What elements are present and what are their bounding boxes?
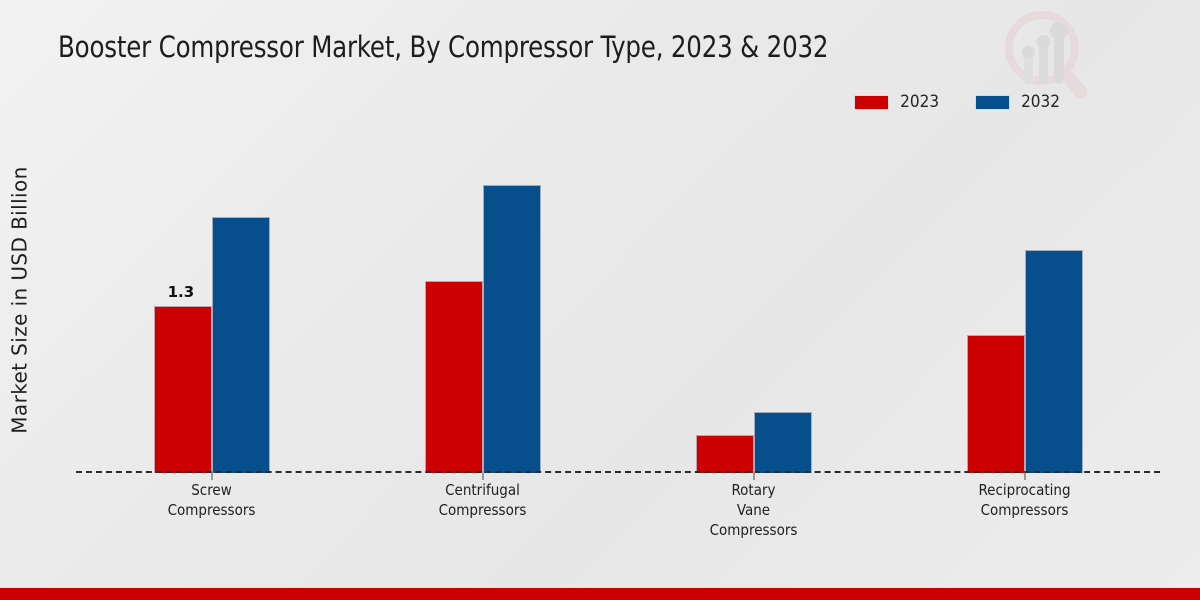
y-axis-title-text: Market Size in USD Billion (8, 166, 32, 433)
legend-label-2032: 2032 (1021, 92, 1060, 112)
magnifier-bar-chart-icon (1002, 8, 1088, 104)
bar-pair (425, 185, 541, 473)
x-axis-baseline (76, 471, 1160, 473)
bar-value-label: 1.3 (168, 283, 195, 301)
chart-container: Booster Compressor Market, By Compressor… (0, 0, 1200, 600)
bar-holder (1025, 250, 1083, 473)
chart-title: Booster Compressor Market, By Compressor… (58, 30, 828, 64)
bar-2023-rotary-vane-compressors[interactable] (696, 435, 754, 473)
bar-group: 1.3 (76, 140, 347, 473)
bar-2023-reciprocating-compressors[interactable] (967, 335, 1025, 473)
bar-2032-reciprocating-compressors[interactable] (1025, 250, 1083, 473)
legend-swatch-2032 (975, 95, 1010, 110)
x-axis-tick (211, 473, 212, 480)
bar-holder (754, 412, 812, 473)
bar-holder: 1.3 (154, 306, 212, 473)
bar-groups: 1.3 (76, 140, 1160, 473)
bar-group (889, 140, 1160, 473)
bar-pair (696, 412, 812, 473)
x-axis-tick (1024, 473, 1025, 480)
bar-holder (967, 335, 1025, 473)
legend-swatch-2023 (854, 95, 889, 110)
bar-pair: 1.3 (154, 217, 270, 473)
bar-holder (212, 217, 270, 473)
x-axis-tick (482, 473, 483, 480)
x-axis-label-centrifugal-compressors: CentrifugalCompressors (347, 480, 618, 540)
bar-holder (696, 435, 754, 473)
footer-accent-band (0, 588, 1200, 600)
bar-holder (483, 185, 541, 473)
x-axis-label-rotary-vane-compressors: RotaryVaneCompressors (618, 480, 889, 540)
legend-item-2032[interactable]: 2032 (975, 92, 1060, 112)
bar-2023-centrifugal-compressors[interactable] (425, 281, 483, 473)
x-axis-label-screw-compressors: ScrewCompressors (76, 480, 347, 540)
chart-legend: 2023 2032 (854, 92, 1060, 112)
x-axis-label-reciprocating-compressors: ReciprocatingCompressors (889, 480, 1160, 540)
legend-label-2023: 2023 (900, 92, 939, 112)
y-axis-title: Market Size in USD Billion (0, 0, 40, 600)
bar-2032-centrifugal-compressors[interactable] (483, 185, 541, 473)
plot-area: 1.3 (76, 140, 1160, 473)
legend-item-2023[interactable]: 2023 (854, 92, 939, 112)
bar-group (347, 140, 618, 473)
bar-group (618, 140, 889, 473)
bar-2023-screw-compressors[interactable] (154, 306, 212, 473)
bar-2032-screw-compressors[interactable] (212, 217, 270, 473)
x-axis-tick (753, 473, 754, 480)
bar-holder (425, 281, 483, 473)
x-axis-category-labels: ScrewCompressorsCentrifugalCompressorsRo… (76, 480, 1160, 540)
bar-2032-rotary-vane-compressors[interactable] (754, 412, 812, 473)
bar-pair (967, 250, 1083, 473)
